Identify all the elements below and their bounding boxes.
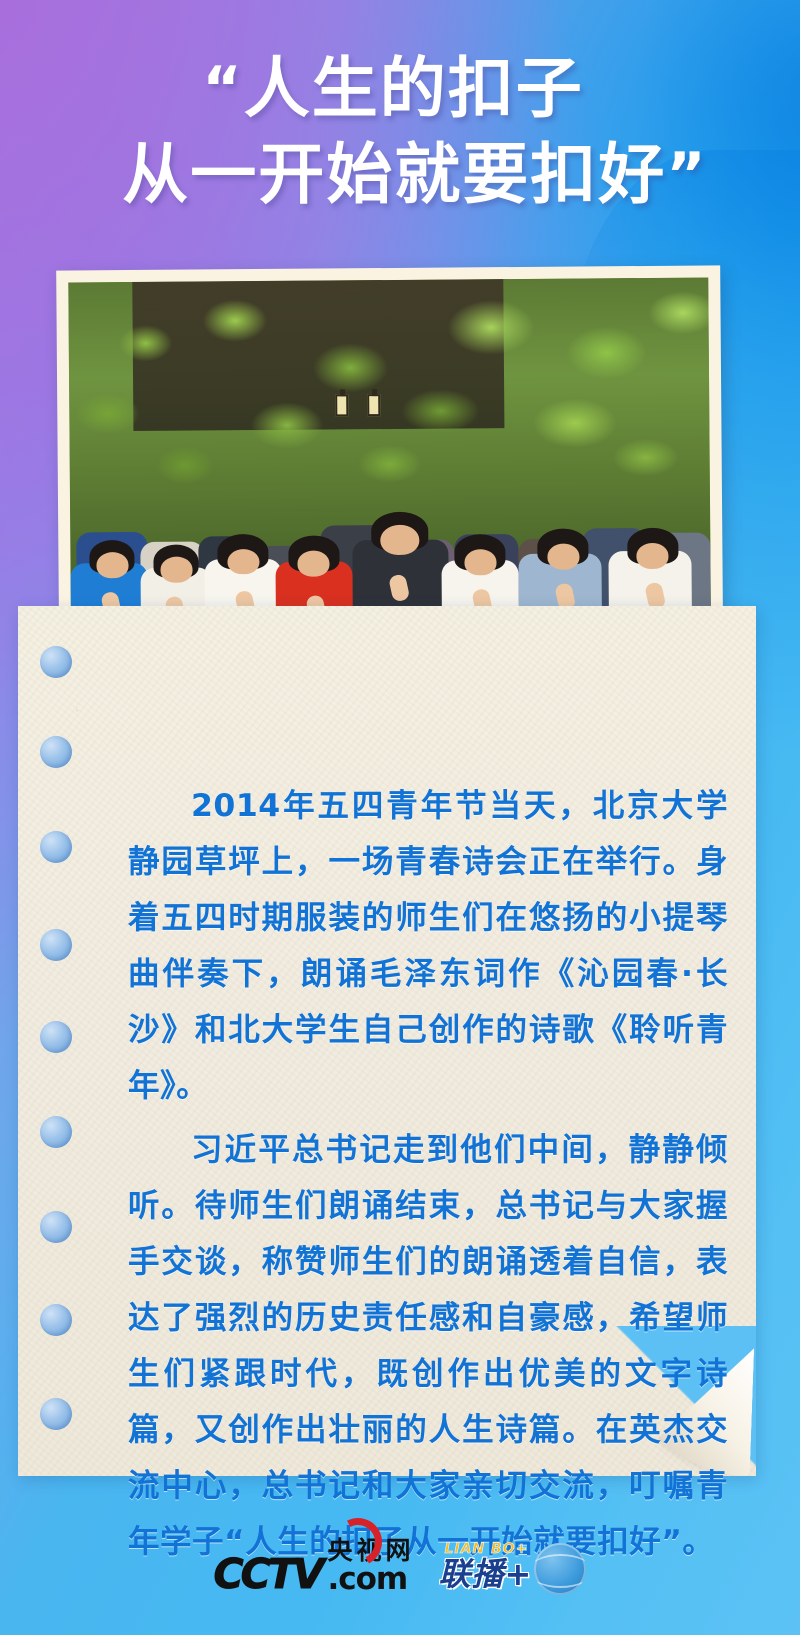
decorative-dot [40, 1304, 72, 1336]
lianbo-logo[interactable]: LIAN BO+ 联播+ [436, 1541, 586, 1595]
person-face [96, 552, 128, 578]
person-face [160, 557, 192, 583]
decorative-dot-column [40, 646, 80, 1456]
cctv-domain: .com [327, 1564, 414, 1595]
poster-title: “人生的扣子 从一开始就要扣好” [0, 46, 800, 218]
cctv-wordmark: CCTV [214, 1554, 322, 1595]
person-face [298, 551, 330, 577]
person-face [464, 550, 496, 576]
person-face [227, 549, 259, 575]
poster-root: “人生的扣子 从一开始就要扣好” [0, 0, 800, 1635]
close-quote-mark: ” [666, 140, 707, 210]
person-face [637, 543, 669, 569]
article-paragraph: 2014年五四青年节当天，北京大学静园草坪上，一场青春诗会正在举行。身着五四时期… [128, 778, 728, 1114]
globe-icon [534, 1543, 586, 1595]
lianbo-chinese-name: 联播+ [438, 1557, 532, 1591]
title-line-2-text: 从一开始就要扣好 [122, 136, 666, 213]
title-line-2: 从一开始就要扣好” [0, 132, 800, 218]
article-body: 2014年五四青年节当天，北京大学静园草坪上，一场青春诗会正在举行。身着五四时期… [128, 778, 728, 1570]
decorative-dot [40, 1116, 72, 1148]
person-face-leader [381, 525, 420, 556]
title-line-1-text: 人生的扣子 [244, 50, 584, 127]
decorative-dot [40, 736, 72, 768]
title-line-1: “人生的扣子 [0, 46, 800, 132]
open-quote-mark: “ [202, 54, 243, 124]
lamp-icon [335, 394, 348, 416]
footer-logos: CCTV 央视网 .com LIAN BO+ 联播+ [0, 1538, 800, 1595]
lamp-icon [367, 394, 380, 416]
decorative-dot [40, 1021, 72, 1053]
decorative-dot [40, 1398, 72, 1430]
cctv-logo[interactable]: CCTV 央视网 .com [214, 1538, 415, 1595]
article-paragraph: 习近平总书记走到他们中间，静静倾听。待师生们朗诵结束，总书记与大家握手交谈，称赞… [128, 1122, 728, 1570]
decorative-dot [40, 831, 72, 863]
person-face [547, 544, 579, 570]
decorative-dot [40, 1211, 72, 1243]
decorative-dot [40, 646, 72, 678]
decorative-dot [40, 929, 72, 961]
